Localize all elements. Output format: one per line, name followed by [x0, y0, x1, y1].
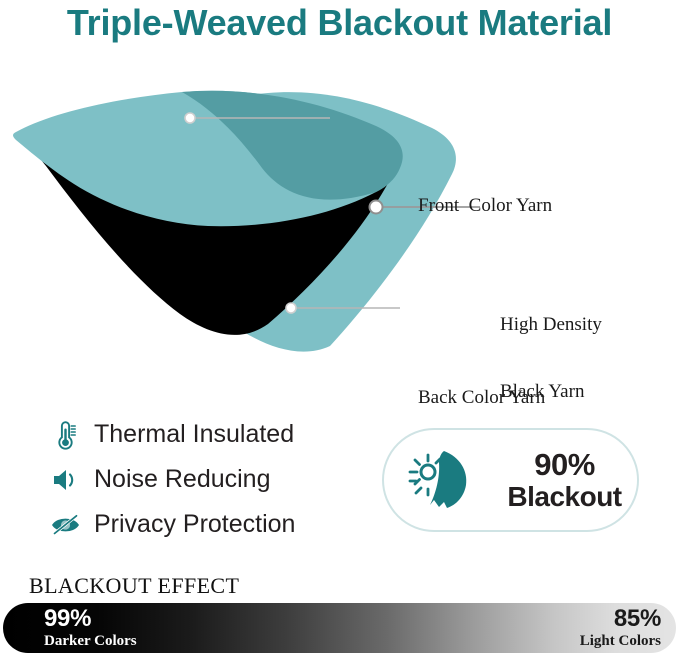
feature-item-noise-reducing: Noise Reducing [48, 457, 368, 502]
callout-label-high-density-black-yarn: High Density Black Yarn [500, 269, 602, 448]
page-title: Triple-Weaved Blackout Material [0, 2, 679, 44]
callout-label-front-color-yarn: Front Color Yarn [418, 195, 552, 217]
fabric-layers-diagram: Front Color Yarn High Density Black Yarn… [0, 88, 679, 353]
sun-blocked-curtain-icon [406, 445, 480, 515]
blackout-word: Blackout [507, 481, 621, 512]
gradient-bar-left-stat: 99% Darker Colors [44, 607, 137, 649]
blackout-effect-title: BLACKOUT EFFECT [29, 573, 239, 599]
darker-colors-caption: Darker Colors [44, 634, 137, 649]
feature-label: Noise Reducing [94, 465, 271, 494]
blackout-percent: 90% [534, 447, 595, 482]
thermometer-icon [48, 418, 84, 452]
eye-slash-icon [48, 508, 84, 542]
blackout-badge-text: 90% Blackout [492, 449, 637, 510]
feature-item-thermal-insulated: Thermal Insulated [48, 412, 368, 457]
gradient-bar-right-stat: 85% Light Colors [580, 607, 661, 649]
light-colors-caption: Light Colors [580, 634, 661, 649]
darker-colors-percent: 99% [44, 607, 137, 631]
speaker-sound-icon [48, 463, 84, 497]
feature-item-privacy-protection: Privacy Protection [48, 502, 368, 547]
callout-label-line-1: High Density [500, 314, 602, 336]
feature-label: Privacy Protection [94, 510, 295, 539]
blackout-badge: 90% Blackout [382, 428, 639, 532]
feature-list: Thermal Insulated Noise Reducing Privacy… [48, 412, 368, 547]
feature-label: Thermal Insulated [94, 420, 294, 449]
callout-label-back-color-yarn: Back Color Yarn [418, 387, 545, 409]
light-colors-percent: 85% [580, 607, 661, 631]
